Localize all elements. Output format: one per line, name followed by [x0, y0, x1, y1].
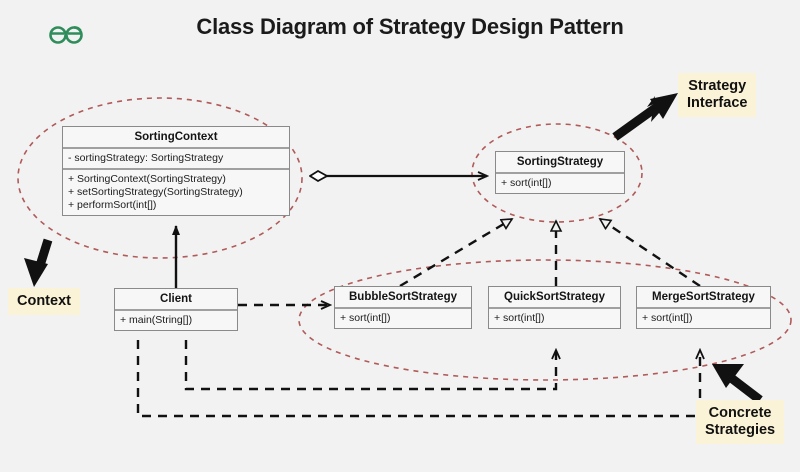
class-method: + setSortingStrategy(SortingStrategy) [68, 186, 284, 199]
class-box-sorting-strategy[interactable]: SortingStrategy + sort(int[]) [495, 151, 625, 194]
class-box-sorting-context[interactable]: SortingContext - sortingStrategy: Sortin… [62, 126, 290, 216]
class-attributes-sorting-context: - sortingStrategy: SortingStrategy [63, 149, 289, 170]
callout-context: Context [8, 288, 80, 315]
connector-dependency-client-quick [186, 340, 556, 389]
class-method: + sort(int[]) [340, 312, 466, 325]
class-methods-merge-sort-strategy: + sort(int[]) [637, 309, 770, 328]
class-method: + sort(int[]) [494, 312, 615, 325]
class-title-quick-sort-strategy: QuickSortStrategy [489, 287, 620, 309]
class-box-client[interactable]: Client + main(String[]) [114, 288, 238, 331]
class-title-sorting-strategy: SortingStrategy [496, 152, 624, 174]
class-methods-quick-sort-strategy: + sort(int[]) [489, 309, 620, 328]
pointer-arrow-strategy-interface [615, 93, 678, 137]
class-method: + performSort(int[]) [68, 199, 284, 212]
class-method: + SortingContext(SortingStrategy) [68, 173, 284, 186]
class-method: + sort(int[]) [642, 312, 765, 325]
callout-concrete-strategies-line2: Strategies [705, 422, 775, 439]
class-title-sorting-context: SortingContext [63, 127, 289, 149]
callout-context-label: Context [17, 293, 71, 310]
pointer-arrow-concrete-strategies [712, 364, 760, 400]
class-attribute: - sortingStrategy: SortingStrategy [68, 152, 284, 165]
class-box-quick-sort-strategy[interactable]: QuickSortStrategy + sort(int[]) [488, 286, 621, 329]
class-method: + sort(int[]) [501, 177, 619, 190]
callout-strategy-interface-line1: Strategy [687, 78, 747, 95]
class-title-bubble-sort-strategy: BubbleSortStrategy [335, 287, 471, 309]
connector-layer [0, 0, 800, 472]
class-title-client: Client [115, 289, 237, 311]
diagram-canvas: Class Diagram of Strategy Design Pattern [0, 0, 800, 472]
connector-realization-bubble-strategy [400, 219, 512, 286]
class-methods-bubble-sort-strategy: + sort(int[]) [335, 309, 471, 328]
callout-concrete-strategies-line1: Concrete [705, 405, 775, 422]
class-methods-sorting-strategy: + sort(int[]) [496, 174, 624, 193]
callout-strategy-interface: Strategy Interface [678, 73, 756, 117]
class-methods-sorting-context: + SortingContext(SortingStrategy) + setS… [63, 170, 289, 215]
class-title-merge-sort-strategy: MergeSortStrategy [637, 287, 770, 309]
pointer-arrow-context [24, 240, 48, 287]
class-methods-client: + main(String[]) [115, 311, 237, 330]
connector-realization-merge-strategy [600, 219, 700, 286]
class-box-bubble-sort-strategy[interactable]: BubbleSortStrategy + sort(int[]) [334, 286, 472, 329]
class-method: + main(String[]) [120, 314, 232, 327]
class-box-merge-sort-strategy[interactable]: MergeSortStrategy + sort(int[]) [636, 286, 771, 329]
callout-concrete-strategies: Concrete Strategies [696, 400, 784, 444]
callout-strategy-interface-line2: Interface [687, 95, 747, 112]
